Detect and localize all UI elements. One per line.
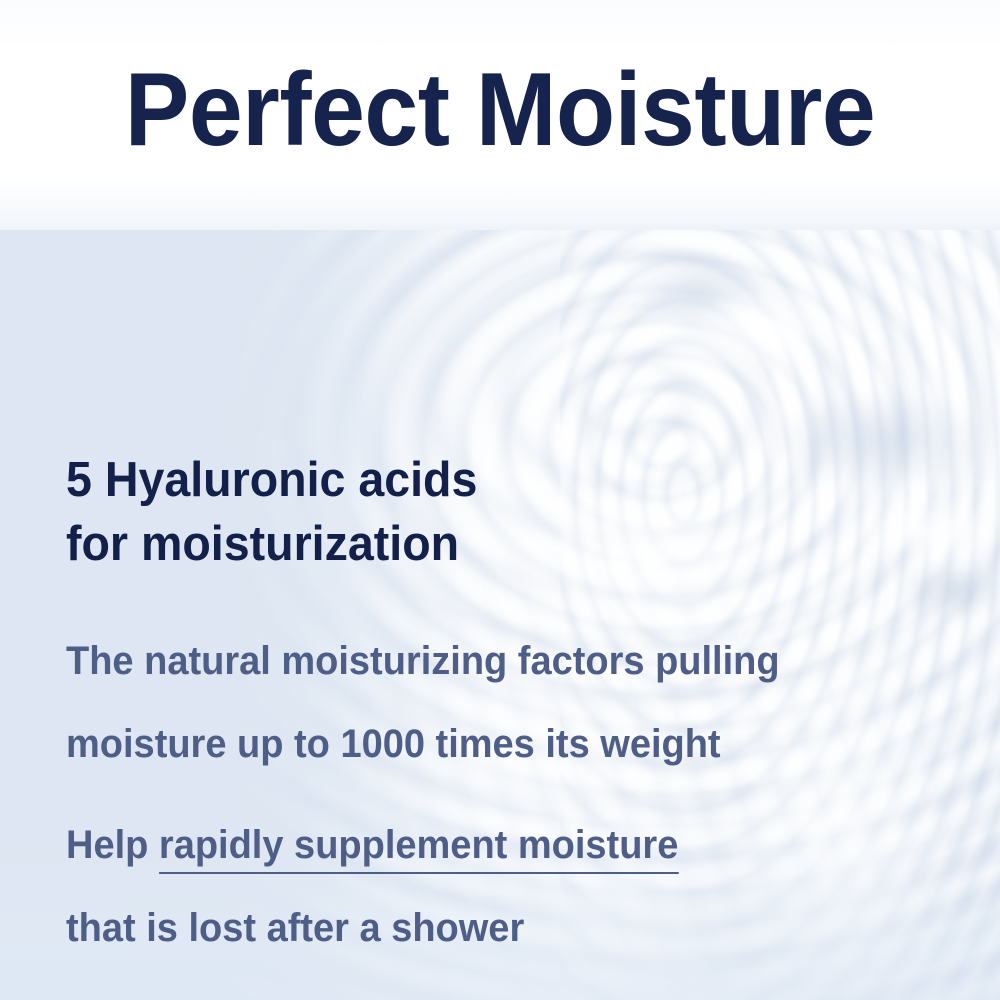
copy-block: 5 Hyaluronic acids for moisturization Th… [0, 230, 1000, 1000]
paragraph-1-line-1: The natural moisturizing factors pulling [66, 620, 780, 703]
subheading-line-2: for moisturization [66, 512, 477, 576]
paragraph-2-prefix: Help [66, 823, 159, 867]
page-title: Perfect Moisture [35, 58, 965, 162]
product-detail-banner: Perfect Moisture 5 Hyaluronic acids for … [0, 0, 1000, 1000]
subheading: 5 Hyaluronic acids for moisturization [66, 448, 477, 576]
paragraph-2-underlined-phrase: rapidly supplement moisture [159, 823, 678, 874]
paragraph-1-line-2: moisture up to 1000 times its weight [66, 703, 780, 786]
paragraph-2-line-1: Help rapidly supplement moisture [66, 804, 678, 887]
subheading-line-1: 5 Hyaluronic acids [66, 448, 477, 512]
body-paragraph-1: The natural moisturizing factors pulling… [66, 620, 780, 786]
paragraph-2-line-2: that is lost after a shower [66, 887, 678, 970]
title-band: Perfect Moisture [0, 0, 1000, 230]
body-paragraph-2: Help rapidly supplement moisture that is… [66, 804, 678, 970]
